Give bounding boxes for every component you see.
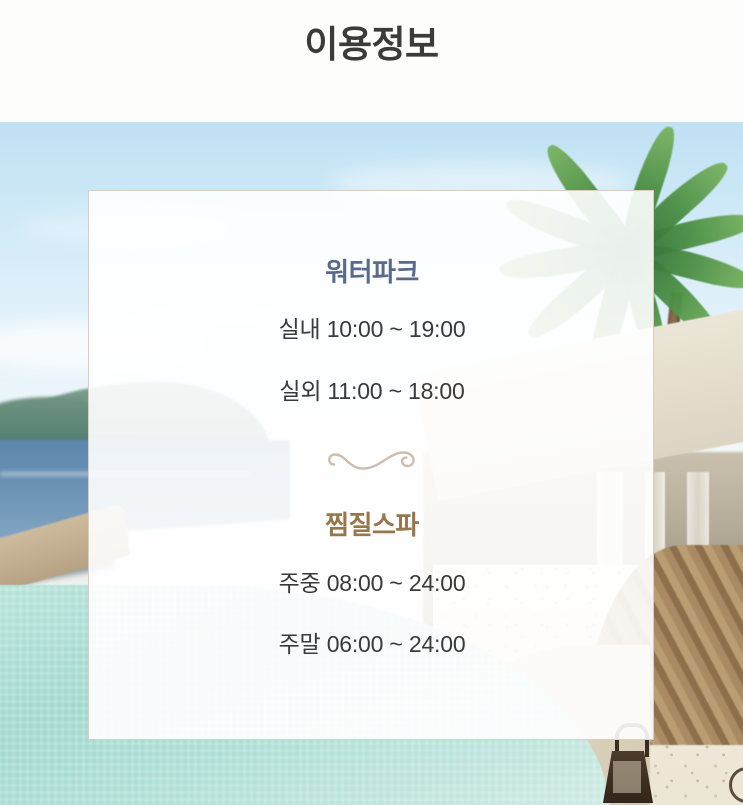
page-title: 이용정보 <box>0 22 743 68</box>
waterpark-hours-outdoor: 실외 11:00 ~ 18:00 <box>89 376 655 406</box>
page-root: 이용정보 <box>0 0 743 805</box>
swirl-flourish-ornament-icon <box>326 444 418 474</box>
spa-hours-weekday: 주중 08:00 ~ 24:00 <box>89 568 655 598</box>
waterpark-hours-indoor: 실내 10:00 ~ 19:00 <box>89 314 655 344</box>
spa-hours-weekend: 주말 06:00 ~ 24:00 <box>89 629 655 659</box>
section-heading-waterpark: 워터파크 <box>89 255 655 289</box>
page-header: 이용정보 <box>0 0 743 122</box>
usage-info-card: 워터파크 실내 10:00 ~ 19:00 실외 11:00 ~ 18:00 찜… <box>88 190 654 740</box>
lantern-glass <box>613 761 641 793</box>
section-heading-spa: 찜질스파 <box>89 508 655 542</box>
divider <box>89 439 655 479</box>
